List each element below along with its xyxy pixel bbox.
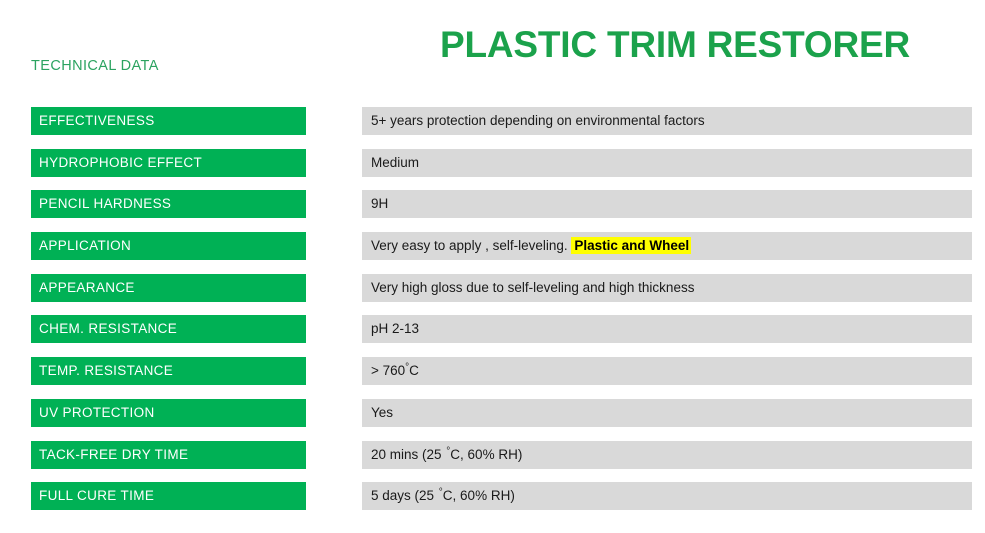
- spec-value-tack-free-dry-time: 20 mins (25 °C, 60% RH): [362, 441, 972, 469]
- spec-label-pencil-hardness: PENCIL HARDNESS: [31, 190, 306, 218]
- spec-value-full-cure-time: 5 days (25 °C, 60% RH): [362, 482, 972, 510]
- table-row: CHEM. RESISTANCE pH 2-13: [0, 315, 985, 357]
- spec-value-effectiveness: 5+ years protection depending on environ…: [362, 107, 972, 135]
- table-row: TEMP. RESISTANCE > 760°C: [0, 357, 985, 399]
- cure-time-value-before: 5 days (25: [371, 488, 438, 503]
- spec-value-chem-resistance: pH 2-13: [362, 315, 972, 343]
- table-row: FULL CURE TIME 5 days (25 °C, 60% RH): [0, 482, 985, 524]
- spec-label-full-cure-time: FULL CURE TIME: [31, 482, 306, 510]
- spec-value-appearance: Very high gloss due to self-leveling and…: [362, 274, 972, 302]
- spec-value-pencil-hardness: 9H: [362, 190, 972, 218]
- table-row: PENCIL HARDNESS 9H: [0, 190, 985, 232]
- temp-value-before: > 760: [371, 363, 405, 378]
- table-row: APPEARANCE Very high gloss due to self-l…: [0, 274, 985, 316]
- table-row: TACK-FREE DRY TIME 20 mins (25 °C, 60% R…: [0, 441, 985, 483]
- spec-label-tack-free-dry-time: TACK-FREE DRY TIME: [31, 441, 306, 469]
- spec-label-chem-resistance: CHEM. RESISTANCE: [31, 315, 306, 343]
- table-row: EFFECTIVENESS 5+ years protection depend…: [0, 107, 985, 149]
- table-row: UV PROTECTION Yes: [0, 399, 985, 441]
- page-title: PLASTIC TRIM RESTORER: [385, 23, 965, 67]
- slide-canvas: PLASTIC TRIM RESTORER TECHNICAL DATA EFF…: [0, 0, 985, 533]
- spec-value-hydrophobic-effect: Medium: [362, 149, 972, 177]
- spec-label-application: APPLICATION: [31, 232, 306, 260]
- dry-time-value-after: C, 60% RH): [450, 447, 522, 462]
- table-row: APPLICATION Very easy to apply , self-le…: [0, 232, 985, 274]
- application-value-text: Very easy to apply , self-leveling.: [371, 238, 571, 253]
- technical-data-table: EFFECTIVENESS 5+ years protection depend…: [0, 107, 985, 524]
- spec-value-application: Very easy to apply , self-leveling. Plas…: [362, 232, 972, 260]
- spec-label-hydrophobic-effect: HYDROPHOBIC EFFECT: [31, 149, 306, 177]
- section-heading: TECHNICAL DATA: [31, 58, 159, 74]
- dry-time-value-before: 20 mins (25: [371, 447, 445, 462]
- temp-value-after: C: [409, 363, 419, 378]
- spec-value-temp-resistance: > 760°C: [362, 357, 972, 385]
- spec-label-appearance: APPEARANCE: [31, 274, 306, 302]
- table-row: HYDROPHOBIC EFFECT Medium: [0, 149, 985, 191]
- spec-label-temp-resistance: TEMP. RESISTANCE: [31, 357, 306, 385]
- cure-time-value-after: C, 60% RH): [443, 488, 515, 503]
- spec-label-effectiveness: EFFECTIVENESS: [31, 107, 306, 135]
- spec-label-uv-protection: UV PROTECTION: [31, 399, 306, 427]
- spec-value-uv-protection: Yes: [362, 399, 972, 427]
- status-badge-plastic-and-wheel: Plastic and Wheel: [571, 237, 691, 254]
